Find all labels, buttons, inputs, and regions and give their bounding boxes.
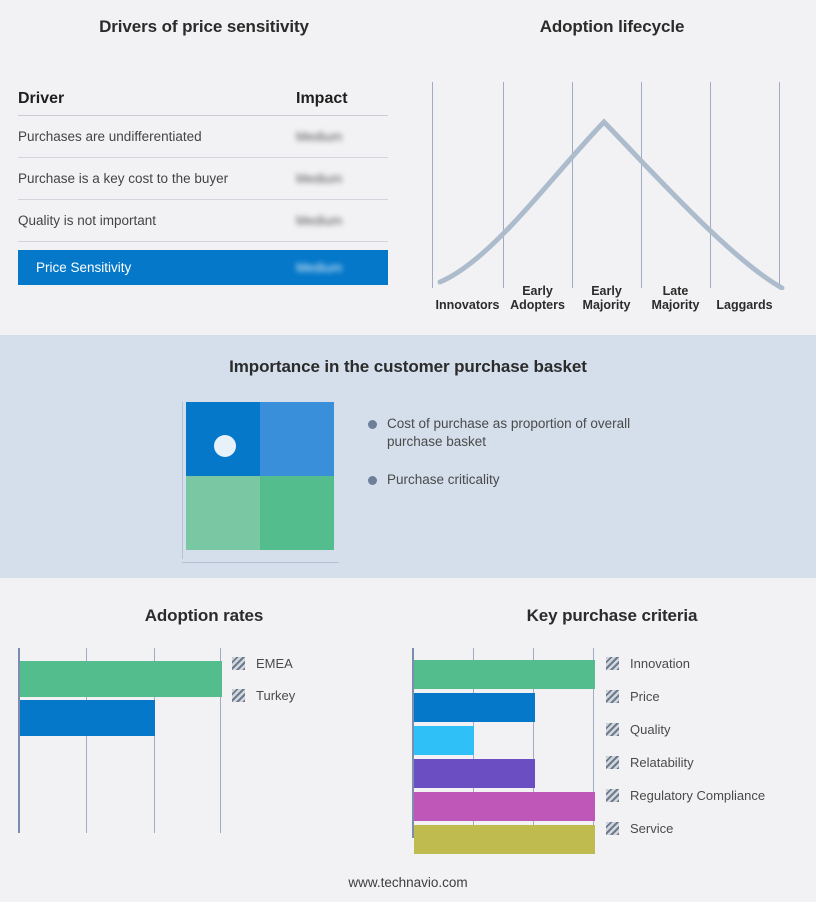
key-purchase-criteria-title: Key purchase criteria (408, 606, 816, 626)
legend-label: Innovation (630, 656, 690, 671)
price-sensitivity-summary-row: Price Sensitivity Medium (18, 250, 388, 285)
list-item: Purchase criticality (368, 471, 668, 489)
key-purchase-criteria-panel: Key purchase criteria (408, 578, 816, 878)
bar-innovation (414, 660, 595, 689)
hatch-swatch-icon (606, 756, 619, 769)
legend-label: Quality (630, 722, 670, 737)
bar-relatability (414, 759, 535, 788)
column-header-impact: Impact (296, 90, 388, 108)
hatch-swatch-icon (232, 657, 245, 670)
table-row: Purchases are undifferentiated Medium (18, 116, 388, 158)
bar-row (20, 700, 222, 736)
bar-row (414, 660, 595, 689)
summary-impact-redacted: Medium (296, 260, 388, 275)
adoption-rates-panel: Adoption rates EMEA Turkey (0, 578, 408, 878)
summary-label: Price Sensitivity (36, 260, 296, 275)
bar-row (414, 726, 595, 755)
hatch-swatch-icon (606, 657, 619, 670)
key-purchase-criteria-plot (412, 648, 596, 838)
lifecycle-stage-labels: Innovators Early Adopters Early Majority… (432, 272, 792, 312)
matrix-quadrant-top-left (186, 402, 260, 476)
lifecycle-plot-area (432, 82, 792, 290)
bar-row (20, 661, 222, 697)
bar-row (414, 825, 595, 854)
importance-in-purchase-basket-panel: Importance in the customer purchase bask… (0, 335, 816, 578)
bar-emea (20, 661, 222, 697)
legend-label: Service (630, 821, 673, 836)
driver-label: Purchase is a key cost to the buyer (18, 171, 296, 186)
adoption-rates-title: Adoption rates (0, 606, 408, 626)
bar-price (414, 693, 535, 722)
table-row: Quality is not important Medium (18, 200, 388, 242)
legend-item-innovation: Innovation (606, 656, 690, 671)
matrix-y-axis (182, 402, 183, 559)
legend-item-turkey: Turkey (232, 688, 295, 703)
matrix-quadrant-top-right (260, 402, 334, 476)
matrix-x-axis (182, 562, 339, 563)
legend-item-emea: EMEA (232, 656, 293, 671)
impact-value-redacted: Medium (296, 171, 388, 186)
bar-regulatory-compliance (414, 792, 595, 821)
lifecycle-panel-title: Adoption lifecycle (408, 17, 816, 37)
legend-item-quality: Quality (606, 722, 670, 737)
adoption-rates-legend: EMEA Turkey (232, 656, 392, 726)
matrix-quadrants (186, 402, 334, 550)
adoption-rates-plot (18, 648, 222, 833)
bar-turkey (20, 700, 155, 736)
importance-legend: Cost of purchase as proportion of overal… (368, 415, 668, 509)
legend-item-regulatory-compliance: Regulatory Compliance (606, 788, 765, 803)
list-item: Cost of purchase as proportion of overal… (368, 415, 668, 451)
drivers-table: Driver Impact Purchases are undifferenti… (18, 90, 388, 285)
legend-item-relatability: Relatability (606, 755, 694, 770)
bar-row (414, 759, 595, 788)
lifecycle-stage-late-majority: Late Majority (641, 284, 710, 312)
driver-label: Quality is not important (18, 213, 296, 228)
legend-label: Relatability (630, 755, 694, 770)
importance-panel-title: Importance in the customer purchase bask… (0, 357, 816, 377)
table-row: Purchase is a key cost to the buyer Medi… (18, 158, 388, 200)
legend-label: EMEA (256, 656, 293, 671)
legend-label: Purchase criticality (387, 471, 500, 489)
bullet-icon (368, 420, 377, 429)
lifecycle-stage-innovators: Innovators (432, 298, 503, 312)
hatch-swatch-icon (232, 689, 245, 702)
lifecycle-stage-laggards: Laggards (710, 298, 779, 312)
lifecycle-stage-early-adopters: Early Adopters (503, 284, 572, 312)
bar-row (414, 693, 595, 722)
matrix-quadrant-bottom-left (186, 476, 260, 550)
legend-label: Cost of purchase as proportion of overal… (387, 415, 668, 451)
hatch-swatch-icon (606, 723, 619, 736)
hatch-swatch-icon (606, 822, 619, 835)
footer-url: www.technavio.com (0, 875, 816, 890)
drivers-panel-title: Drivers of price sensitivity (0, 17, 408, 37)
adoption-bell-curve (432, 82, 792, 290)
legend-label: Regulatory Compliance (630, 788, 765, 803)
bullet-icon (368, 476, 377, 485)
legend-label: Price (630, 689, 660, 704)
key-purchase-criteria-legend: Innovation Price Quality Relatability Re… (606, 656, 816, 866)
legend-item-price: Price (606, 689, 660, 704)
legend-item-service: Service (606, 821, 673, 836)
bar-service (414, 825, 595, 854)
hatch-swatch-icon (606, 690, 619, 703)
bar-quality (414, 726, 474, 755)
hatch-swatch-icon (606, 789, 619, 802)
impact-value-redacted: Medium (296, 129, 388, 144)
adoption-lifecycle-panel: Adoption lifecycle Innovators Early Adop… (408, 0, 816, 335)
infographic-page: Drivers of price sensitivity Driver Impa… (0, 0, 816, 902)
matrix-quadrant-bottom-right (260, 476, 334, 550)
bar-row (414, 792, 595, 821)
column-header-driver: Driver (18, 90, 296, 108)
drivers-table-header: Driver Impact (18, 90, 388, 116)
impact-value-redacted: Medium (296, 213, 388, 228)
lifecycle-stage-early-majority: Early Majority (572, 284, 641, 312)
driver-label: Purchases are undifferentiated (18, 129, 296, 144)
legend-label: Turkey (256, 688, 295, 703)
drivers-of-price-sensitivity-panel: Drivers of price sensitivity Driver Impa… (0, 0, 408, 335)
matrix-position-marker (214, 435, 236, 457)
importance-matrix (182, 402, 334, 554)
